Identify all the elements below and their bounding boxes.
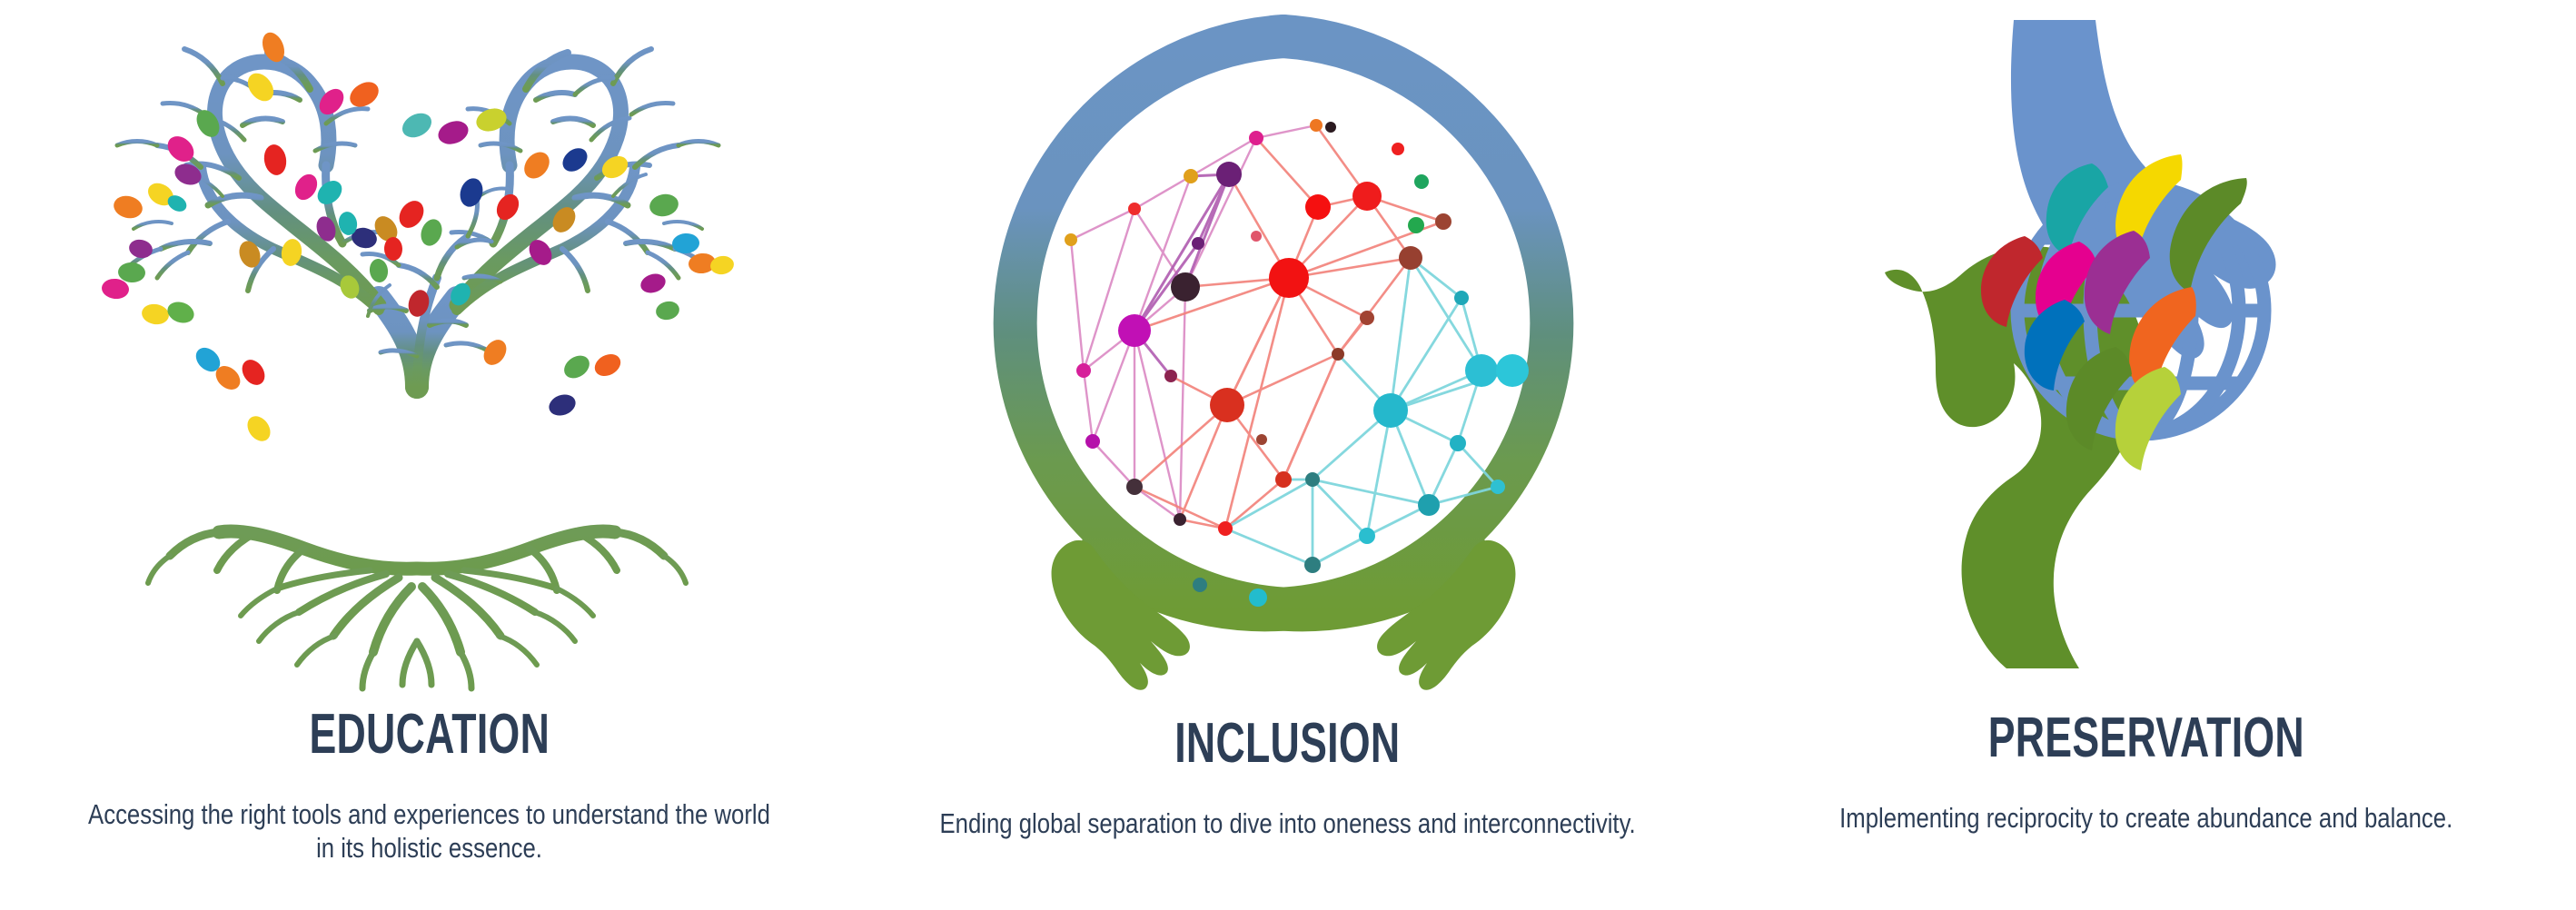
preservation-heading: PRESERVATION (1987, 710, 2304, 767)
value-column-preservation: PRESERVATION Implementing reciprocity to… (1717, 0, 2575, 910)
inclusion-heading: INCLUSION (1174, 716, 1400, 772)
preservation-description: Implementing reciprocity to create abund… (1832, 801, 2461, 835)
education-heading: EDUCATION (309, 707, 550, 763)
two-hands-cradling-globe-with-leaves-icon (1836, 9, 2472, 681)
education-heading-wrap: EDUCATION (0, 707, 858, 783)
education-illustration (0, 0, 858, 705)
heart-shaped-tree-with-roots-icon (26, 5, 807, 696)
education-description-wrap: Accessing the right tools and experience… (0, 797, 858, 865)
preservation-heading-wrap: PRESERVATION (1717, 710, 2575, 786)
inclusion-description-wrap: Ending global separation to dive into on… (858, 806, 1717, 840)
value-column-inclusion: INCLUSION Ending global separation to di… (858, 0, 1717, 910)
education-description: Accessing the right tools and experience… (73, 797, 785, 865)
values-board: EDUCATION Accessing the right tools and … (0, 0, 2576, 910)
preservation-description-wrap: Implementing reciprocity to create abund… (1717, 801, 2575, 835)
inclusion-illustration (858, 0, 1717, 714)
value-column-education: EDUCATION Accessing the right tools and … (0, 0, 858, 910)
inclusion-heading-wrap: INCLUSION (858, 716, 1717, 792)
preservation-illustration (1717, 0, 2575, 708)
hands-holding-network-globe-icon (956, 15, 1610, 687)
inclusion-description: Ending global separation to dive into on… (932, 806, 1643, 840)
